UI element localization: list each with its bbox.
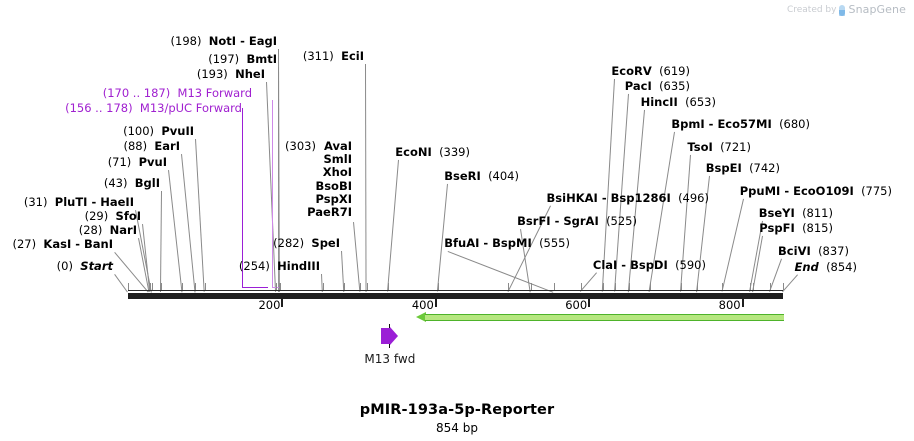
plasmid-length: 854 bp [0, 421, 914, 435]
site-position: (193) [197, 67, 228, 81]
restriction-site-label[interactable]: BseYI (811) [759, 207, 833, 219]
site-position: (311) [303, 49, 334, 63]
leader-line [448, 251, 554, 293]
site-position: (742) [749, 161, 780, 175]
restriction-site-label[interactable]: (100) PvuII [123, 125, 194, 137]
site-position: (555) [539, 236, 570, 250]
restriction-site-label[interactable]: (28) NarI [79, 224, 137, 236]
site-tick [323, 283, 324, 290]
site-tick [367, 283, 368, 290]
site-tick [195, 283, 196, 290]
site-tick [615, 283, 616, 290]
site-tick [128, 283, 129, 290]
watermark-brand: SnapGene [848, 3, 906, 16]
enzyme-name: EcoRV [611, 64, 651, 78]
primer-foot-line [242, 287, 268, 288]
axis-tick-label: 400 [412, 298, 434, 312]
primer-label[interactable]: (156 .. 178) M13/pUC Forward [65, 102, 242, 114]
leader-line [365, 64, 367, 292]
enzyme-separator: - [705, 117, 718, 131]
restriction-site-label-stacked[interactable]: (303) AvaISmlIXhoIBsoBIPspXIPaeR7I [285, 140, 352, 219]
enzyme-name: SgrAI [563, 214, 598, 228]
plasmid-title-block: pMIR-193a-5p-Reporter 854 bp [0, 402, 914, 435]
site-tick [603, 283, 604, 290]
enzyme-name: BmtI [246, 52, 277, 66]
enzyme-separator: - [87, 195, 100, 209]
enzyme-name: BsiHKAI [547, 191, 598, 205]
site-tick [276, 283, 277, 290]
site-position: (303) [285, 139, 316, 153]
primer-label[interactable]: (170 .. 187) M13 Forward [103, 87, 252, 99]
restriction-site-label[interactable]: BciVI (837) [778, 245, 849, 257]
enzyme-name: BseYI [759, 206, 795, 220]
enzyme-name: BanI [84, 237, 113, 251]
site-position: (282) [273, 236, 304, 250]
restriction-site-label[interactable]: BfuAI - BspMI (555) [444, 237, 570, 249]
site-position: (29) [85, 209, 109, 223]
site-tick [388, 283, 389, 290]
site-position: (619) [659, 64, 690, 78]
restriction-site-label[interactable]: (43) BglI [104, 177, 160, 189]
enzyme-name: HindIII [277, 259, 320, 273]
leader-line [387, 160, 399, 292]
axis-tick [588, 299, 590, 307]
enzyme-name: SpeI [311, 236, 340, 250]
restriction-site-label[interactable]: (31) PluTI - HaeII [24, 196, 134, 208]
site-position: (680) [779, 117, 810, 131]
leader-line [782, 274, 798, 292]
restriction-site-label[interactable]: BspEI (742) [706, 162, 780, 174]
site-tick [182, 283, 183, 290]
restriction-site-label[interactable]: (197) BmtI [208, 53, 277, 65]
m13-arrow-head [390, 327, 398, 345]
feature-m13-fwd-arrow[interactable] [381, 328, 398, 344]
leader-line [353, 222, 360, 292]
site-tick [161, 283, 162, 290]
feature-green-arrow[interactable] [416, 314, 784, 321]
restriction-site-label[interactable]: PacI (635) [625, 80, 690, 92]
enzyme-separator: - [71, 237, 84, 251]
leader-line [168, 170, 182, 292]
site-position: (198) [171, 34, 202, 48]
enzyme-name: BspDI [630, 258, 668, 272]
enzyme-name: End [794, 260, 818, 274]
enzyme-name: PvuII [161, 124, 194, 138]
site-tick [152, 283, 153, 290]
enzyme-name: Eco57MI [717, 117, 771, 131]
enzyme-separator: - [479, 236, 492, 250]
primer-name: M13/pUC Forward [140, 101, 242, 115]
enzyme-name: PacI [625, 79, 652, 93]
enzyme-name: NheI [235, 67, 265, 81]
leader-line [278, 49, 280, 292]
site-tick [581, 283, 582, 290]
enzyme-name: NarI [110, 223, 137, 237]
site-tick [650, 283, 651, 290]
site-position: (811) [802, 206, 833, 220]
restriction-site-label[interactable]: (311) EciI [303, 50, 364, 62]
enzyme-name: PvuI [139, 155, 167, 169]
restriction-site-label[interactable]: EcoNI (339) [395, 146, 470, 158]
m13-arrow-body [381, 328, 390, 344]
site-position: (71) [108, 155, 132, 169]
site-position: (815) [802, 221, 833, 235]
axis-tick-label: 600 [565, 298, 587, 312]
site-tick [508, 283, 509, 290]
axis-tick-label: 200 [258, 298, 280, 312]
enzyme-separator: - [598, 191, 611, 205]
site-position: (854) [826, 260, 857, 274]
site-position: (721) [720, 140, 751, 154]
site-tick [205, 283, 206, 290]
site-position: (254) [239, 259, 270, 273]
restriction-site-label[interactable]: PpuMI - EcoO109I (775) [740, 185, 892, 197]
site-position: (197) [208, 52, 239, 66]
site-position: (0) [57, 259, 73, 273]
restriction-site-label[interactable]: PspFI (815) [759, 222, 833, 234]
enzyme-name: KasI [43, 237, 71, 251]
site-position: (88) [124, 139, 148, 153]
restriction-site-label[interactable]: EcoRV (619) [611, 65, 690, 77]
axis-tick [435, 299, 437, 307]
feature-m13-fwd-label: M13 fwd [364, 352, 415, 366]
site-tick [753, 283, 754, 290]
leader-line [195, 139, 205, 292]
restriction-site-label[interactable]: (0) Start [57, 260, 113, 272]
site-position: (590) [675, 258, 706, 272]
site-tick [770, 283, 771, 290]
site-position: (653) [685, 95, 716, 109]
enzyme-separator: - [236, 34, 249, 48]
snapgene-logo-icon [839, 5, 845, 16]
site-tick [750, 283, 751, 290]
enzyme-name: BfuAI [444, 236, 479, 250]
restriction-site-label[interactable]: (27) KasI - BanI [13, 238, 114, 250]
enzyme-separator: - [551, 214, 564, 228]
enzyme-name: PluTI [55, 195, 88, 209]
restriction-site-label[interactable]: TsoI (721) [687, 141, 751, 153]
page-title: pMIR-193a-5p-Reporter [0, 402, 914, 418]
site-position: (28) [79, 223, 103, 237]
enzyme-name: ClaI [593, 258, 617, 272]
site-tick [783, 283, 784, 290]
enzyme-name: PspFI [759, 221, 794, 235]
enzyme-name: BciVI [778, 244, 811, 258]
restriction-site-label[interactable]: (254) HindIII [239, 260, 320, 272]
green-arrow-body [425, 314, 784, 321]
axis-tick-label: 800 [719, 298, 741, 312]
site-tick [681, 283, 682, 290]
leader-line [721, 199, 744, 292]
leader-line [181, 154, 195, 292]
enzyme-name: HincII [641, 95, 678, 109]
enzyme-name: HaeII [100, 195, 134, 209]
snapgene-watermark: Created by SnapGene [787, 3, 906, 16]
site-position: (525) [606, 214, 637, 228]
restriction-site-label[interactable]: (198) NotI - EagI [171, 35, 277, 47]
site-tick [629, 283, 630, 290]
primer-name: M13 Forward [178, 86, 252, 100]
restriction-site-label[interactable]: BseRI (404) [444, 170, 519, 182]
ruler-top-line [128, 290, 783, 291]
site-position: (43) [104, 176, 128, 190]
site-tick [554, 283, 555, 290]
site-tick [280, 283, 281, 290]
leader-line [114, 274, 128, 293]
restriction-site-label[interactable]: HincII (653) [641, 96, 716, 108]
enzyme-name: SfoI [116, 209, 141, 223]
site-position: (635) [659, 79, 690, 93]
enzyme-name: PpuMI [740, 184, 781, 198]
enzyme-separator: - [780, 184, 793, 198]
site-position: (837) [818, 244, 849, 258]
enzyme-name: BsrFI [517, 214, 550, 228]
restriction-site-label[interactable]: (29) SfoI [85, 210, 141, 222]
enzyme-name: BspMI [492, 236, 532, 250]
site-position: (496) [678, 191, 709, 205]
leader-line [160, 191, 162, 292]
axis-tick [281, 299, 283, 307]
restriction-site-label[interactable]: (71) PvuI [108, 156, 167, 168]
site-position: (404) [488, 169, 519, 183]
enzyme-name: BsoBI [285, 180, 352, 193]
restriction-site-label[interactable]: End (854) [794, 261, 857, 273]
enzyme-name: BseRI [444, 169, 481, 183]
site-tick [438, 283, 439, 290]
site-tick [531, 283, 532, 290]
restriction-site-label[interactable]: ClaI - BspDI (590) [593, 259, 706, 271]
enzyme-name: Start [80, 259, 113, 273]
restriction-site-label[interactable]: BsiHKAI - Bsp1286I (496) [547, 192, 709, 204]
enzyme-name: TsoI [687, 140, 712, 154]
site-tick [722, 283, 723, 290]
enzyme-name: BspEI [706, 161, 742, 175]
enzyme-name: EagI [249, 34, 277, 48]
enzyme-name: BglI [135, 176, 160, 190]
enzyme-name: Bsp1286I [611, 191, 671, 205]
axis-tick [742, 299, 744, 307]
watermark-created-by: Created by [787, 5, 837, 15]
enzyme-name: BpmI [671, 117, 704, 131]
site-tick [344, 283, 345, 290]
site-position: (339) [439, 145, 470, 159]
restriction-site-label[interactable]: (193) NheI [197, 68, 265, 80]
enzyme-name: NotI [209, 34, 236, 48]
restriction-site-label[interactable]: BsrFI - SgrAI (525) [517, 215, 637, 227]
enzyme-name: EciI [341, 49, 364, 63]
site-position: (27) [13, 237, 37, 251]
site-position: (100) [123, 124, 154, 138]
restriction-site-label[interactable]: BpmI - Eco57MI (680) [671, 118, 810, 130]
enzyme-name: EcoNI [395, 145, 431, 159]
plasmid-linear-map: Created by SnapGene (0) Start(27) KasI -… [0, 0, 914, 441]
ruler-bar [128, 293, 783, 299]
restriction-site-label[interactable]: (282) SpeI [273, 237, 340, 249]
primer-range: (156 .. 178) [65, 101, 133, 115]
enzyme-separator: - [617, 258, 630, 272]
site-position: (31) [24, 195, 48, 209]
enzyme-name: XhoI [285, 166, 352, 179]
leader-line [769, 259, 782, 292]
site-position: (775) [861, 184, 892, 198]
enzyme-name: PaeR7I [285, 206, 352, 219]
enzyme-name: EarI [154, 139, 180, 153]
primer-range: (170 .. 187) [103, 86, 171, 100]
site-tick [697, 283, 698, 290]
restriction-site-label[interactable]: (88) EarI [124, 140, 181, 152]
enzyme-name: EcoO109I [793, 184, 854, 198]
site-tick [360, 283, 361, 290]
